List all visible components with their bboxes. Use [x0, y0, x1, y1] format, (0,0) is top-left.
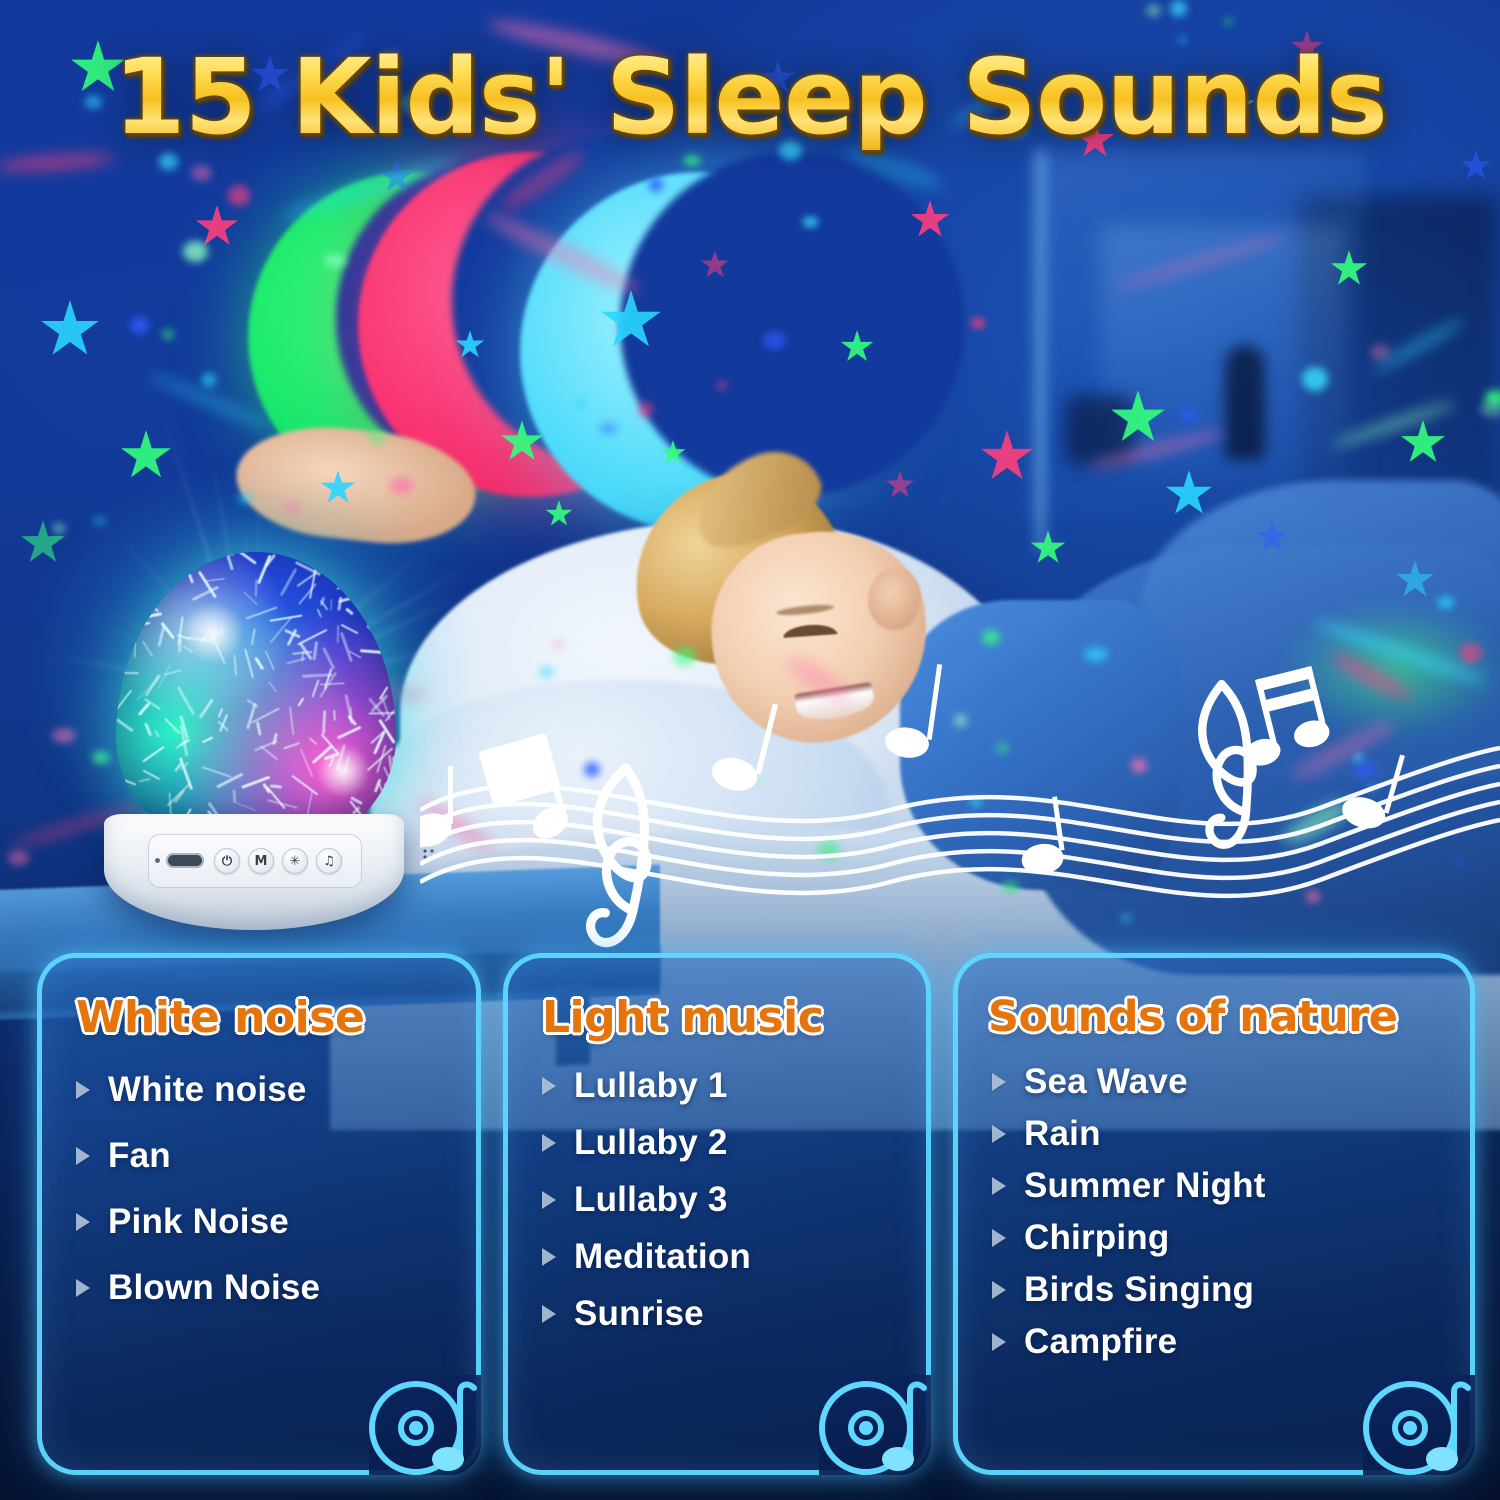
panel-heading: White noise — [76, 992, 364, 1043]
list-item-label: Blown Noise — [108, 1268, 320, 1308]
list-item: Lullaby 3 — [542, 1180, 902, 1220]
sound-list: Lullaby 1Lullaby 2Lullaby 3MeditationSun… — [542, 1066, 902, 1351]
list-item: Sunrise — [542, 1294, 902, 1334]
panel-notch — [819, 1375, 931, 1475]
triangle-bullet-icon — [992, 1333, 1006, 1351]
list-item-label: Rain — [1024, 1114, 1101, 1154]
list-item-label: Lullaby 1 — [574, 1066, 728, 1106]
triangle-bullet-icon — [76, 1279, 90, 1297]
triangle-bullet-icon — [542, 1077, 556, 1095]
list-item: Rain — [992, 1114, 1446, 1154]
triangle-bullet-icon — [76, 1147, 90, 1165]
list-item-label: Birds Singing — [1024, 1270, 1254, 1310]
sound-list: Sea WaveRainSummer NightChirpingBirds Si… — [992, 1062, 1446, 1374]
triangle-bullet-icon — [76, 1213, 90, 1231]
list-item: Lullaby 1 — [542, 1066, 902, 1106]
triangle-bullet-icon — [542, 1191, 556, 1209]
panel-light-music: Light music Lullaby 1Lullaby 2Lullaby 3M… — [508, 958, 926, 1470]
list-item: Fan — [76, 1136, 452, 1176]
triangle-bullet-icon — [76, 1081, 90, 1099]
list-item-label: White noise — [108, 1070, 307, 1110]
list-item: Chirping — [992, 1218, 1446, 1258]
list-item: Meditation — [542, 1237, 902, 1277]
panel-heading: Sounds of nature — [988, 992, 1397, 1042]
list-item-label: Sunrise — [574, 1294, 704, 1334]
triangle-bullet-icon — [992, 1177, 1006, 1195]
panel-notch — [369, 1375, 481, 1475]
list-item: Lullaby 2 — [542, 1123, 902, 1163]
triangle-bullet-icon — [992, 1073, 1006, 1091]
sound-list: White noiseFanPink NoiseBlown Noise — [76, 1070, 452, 1334]
list-item-label: Chirping — [1024, 1218, 1169, 1258]
list-item-label: Lullaby 2 — [574, 1123, 728, 1163]
list-item: Summer Night — [992, 1166, 1446, 1206]
list-item-label: Sea Wave — [1024, 1062, 1188, 1102]
list-item: Sea Wave — [992, 1062, 1446, 1102]
list-item-label: Pink Noise — [108, 1202, 289, 1242]
list-item: White noise — [76, 1070, 452, 1110]
triangle-bullet-icon — [542, 1248, 556, 1266]
list-item-label: Campfire — [1024, 1322, 1177, 1362]
panel-white-noise: White noise White noiseFanPink NoiseBlow… — [42, 958, 476, 1470]
list-item: Birds Singing — [992, 1270, 1446, 1310]
triangle-bullet-icon — [992, 1125, 1006, 1143]
triangle-bullet-icon — [992, 1229, 1006, 1247]
panel-notch — [1363, 1375, 1475, 1475]
panel-sounds-of-nature: Sounds of nature Sea WaveRainSummer Nigh… — [958, 958, 1470, 1470]
list-item-label: Meditation — [574, 1237, 751, 1277]
triangle-bullet-icon — [542, 1305, 556, 1323]
list-item: Pink Noise — [76, 1202, 452, 1242]
triangle-bullet-icon — [992, 1281, 1006, 1299]
panel-heading: Light music — [542, 992, 823, 1043]
list-item: Campfire — [992, 1322, 1446, 1362]
list-item-label: Summer Night — [1024, 1166, 1266, 1206]
list-item-label: Lullaby 3 — [574, 1180, 728, 1220]
list-item: Blown Noise — [76, 1268, 452, 1308]
triangle-bullet-icon — [542, 1134, 556, 1152]
list-item-label: Fan — [108, 1136, 171, 1176]
sound-category-panels: White noise White noiseFanPink NoiseBlow… — [0, 0, 1500, 1500]
